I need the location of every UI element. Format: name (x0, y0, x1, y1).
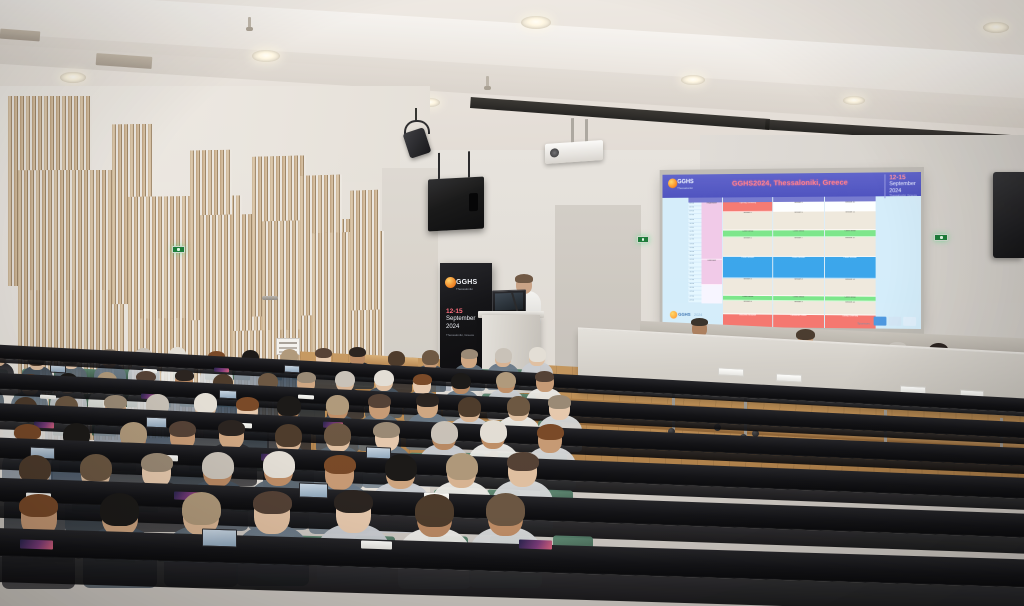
audience-hair (326, 395, 349, 415)
banner-date-year: 2024 (446, 324, 459, 330)
exit-sign (934, 234, 948, 241)
audience-hair (529, 347, 546, 361)
projection-screen: GGHS Thessaloniki GGHS2024, Thessaloniki… (662, 172, 921, 329)
audience-hair (120, 422, 147, 445)
audience-hair (253, 491, 292, 514)
lecture-hall-photo: GGHS Thessaloniki GGHS2024, Thessaloniki… (0, 0, 1024, 606)
panelist-hair (691, 318, 708, 326)
slide-date-place: Thessaloniki, Greece (889, 194, 917, 198)
audience-hair (202, 452, 234, 479)
sprinkler-head (248, 17, 251, 29)
name-card (718, 367, 744, 376)
audience-hair (537, 424, 564, 440)
audience-hair (461, 349, 478, 359)
audience-hair (548, 395, 571, 409)
lectern-laptop (492, 289, 526, 313)
audience-hair (324, 423, 351, 446)
conference-booklet (20, 539, 53, 549)
audience-laptop (299, 483, 328, 499)
ceiling-downlight (252, 50, 280, 62)
presenter-hair (515, 274, 533, 283)
audience-laptop (202, 528, 237, 547)
audience-laptop (366, 447, 391, 460)
audience-hair (275, 424, 302, 447)
schedule-session-block: Session 5 (773, 202, 823, 212)
audience-hair (374, 370, 394, 387)
speaker-port (469, 193, 478, 211)
slide-sponsor-logos: Sponsors (857, 316, 916, 326)
audience-hair (349, 347, 366, 357)
ceiling-downlight (60, 72, 86, 83)
banner-logo-text: GGHS (456, 279, 477, 286)
audience-hair (446, 453, 478, 480)
audience-laptop (284, 365, 300, 374)
audience-hair (535, 371, 555, 383)
door-handle[interactable] (262, 296, 278, 300)
schedule-session-block: Session 8 (773, 279, 823, 296)
audience-hair (169, 421, 196, 437)
audience-laptop (146, 416, 167, 427)
audience-hair (507, 396, 530, 416)
schedule-grid: 08:0008:3009:0009:3010:0010:3011:0011:30… (688, 196, 875, 304)
audience-hair (431, 421, 458, 444)
schedule-session-block: Poster Session (825, 256, 876, 279)
audience-hair (507, 452, 539, 471)
audience-hair (104, 395, 127, 409)
sponsor-label: Sponsors (857, 321, 869, 325)
acoustic-slat-panel (350, 189, 384, 310)
audience-hair (413, 374, 433, 386)
audience-papers (361, 541, 392, 550)
schedule-session-block: Session 9 (773, 301, 823, 315)
audience-hair (19, 494, 58, 517)
slide-date-month: September (889, 182, 917, 189)
audience-hair (368, 394, 391, 408)
audience-hair (480, 420, 507, 443)
banner-globe-icon (445, 277, 456, 288)
audience-hair (458, 397, 481, 417)
schedule-session-block: Registration (701, 202, 722, 259)
sprinkler-head (486, 76, 489, 88)
audience-laptop (50, 365, 66, 374)
ceiling-downlight (681, 75, 705, 85)
schedule-day-column: Opening CeremonySession 1Coffee BreakSes… (722, 197, 772, 304)
slat-gap (378, 190, 380, 310)
projected-slide: GGHS Thessaloniki GGHS2024, Thessaloniki… (662, 172, 921, 329)
audience-hair (451, 373, 471, 390)
schedule-session-block: Session 1 (723, 212, 773, 231)
schedule-session-block: Session 10 (825, 201, 876, 211)
slide-logo-sub: Thessaloniki (677, 186, 693, 190)
audience-hair (324, 455, 356, 474)
sponsor-logo (888, 317, 901, 326)
gghs-logo-icon: GGHS Thessaloniki (668, 177, 692, 195)
schedule-session-block: Session 7 (773, 237, 823, 256)
panelist-hair (796, 329, 815, 340)
speaker-cable (468, 151, 470, 177)
schedule-session-block: Icebreaker (701, 260, 722, 285)
audience-hair (496, 372, 516, 389)
speaker-cable (438, 153, 440, 179)
audience-hair (388, 351, 405, 365)
slide-header-bar: GGHS Thessaloniki GGHS2024, Thessaloniki… (662, 172, 921, 198)
schedule-session-block: Session 3 (723, 279, 773, 296)
banner-date-month: September (446, 316, 475, 322)
schedule-time-column: 08:0008:3009:0009:3010:0010:3011:0011:30… (688, 198, 701, 304)
slide-title: GGHS2024, Thessaloniki, Greece (732, 178, 848, 188)
audience-laptop (219, 390, 237, 400)
schedule-session-block: Opening Ceremony (723, 202, 773, 212)
audience-hair (422, 350, 439, 364)
audience-hair (373, 422, 400, 438)
footer-logo-sub: 2024 (694, 312, 702, 317)
sponsor-logo (903, 317, 916, 326)
hanging-speaker (428, 177, 484, 232)
banner-logo-sub: Thessaloniki (456, 287, 473, 291)
audience-hair (297, 372, 317, 384)
projector-mount-rod (571, 118, 574, 142)
projector-lens-icon (550, 148, 559, 158)
schedule-day-column: RegistrationIcebreaker (701, 197, 722, 303)
schedule-time-tick: 20:00 (688, 299, 701, 303)
schedule-day-column: Session 5Session 6Coffee BreakSession 7P… (773, 197, 824, 305)
audience-hair (263, 451, 295, 478)
schedule-session-block: Session 12 (825, 237, 876, 256)
footer-logo-text: GGHS (678, 312, 690, 317)
globe-icon (668, 178, 677, 188)
projector-mount-rod (585, 119, 588, 141)
audience-hair (415, 494, 454, 527)
ceiling-downlight (983, 22, 1009, 33)
audience-hair (495, 348, 512, 362)
name-card (776, 373, 802, 382)
wall-mounted-speaker (993, 172, 1024, 258)
audience-hair (334, 490, 373, 513)
audience-hair (80, 454, 112, 481)
audience-hair (335, 371, 355, 388)
audience-hair (416, 393, 439, 407)
audience-hair (141, 453, 173, 472)
audience-hair (100, 493, 139, 526)
stage-light-fixture (400, 120, 434, 162)
exit-sign (172, 246, 185, 253)
sponsor-logo (874, 317, 887, 326)
audience-hair (277, 396, 300, 416)
schedule-session-block: Poster Session (723, 256, 773, 278)
audience-hair (315, 348, 332, 358)
audience-hair (486, 493, 525, 526)
schedule-session-block: Session 13 (825, 279, 876, 297)
audience-hair (385, 454, 417, 481)
audience-hair (236, 397, 259, 411)
schedule-session-block: Poster Session (773, 256, 823, 279)
ceiling-downlight (843, 96, 865, 105)
audience-hair (194, 393, 217, 413)
slide-logo-text: GGHS (677, 179, 693, 185)
ceiling-downlight (521, 16, 551, 29)
schedule-day-column: Session 10Session 11Coffee BreakSession … (824, 196, 876, 304)
globe-icon-small (670, 311, 677, 319)
audience-hair (218, 420, 245, 436)
schedule-session-block: Session 6 (773, 211, 823, 230)
schedule-session-block: Session 11 (825, 211, 876, 231)
conference-booklet (519, 539, 552, 549)
slide-date-block: 12-15 September 2024 Thessaloniki, Greec… (884, 174, 917, 198)
banner-date-days: 12-15 (446, 308, 463, 315)
exit-sign (637, 236, 649, 243)
schedule-session-block: Session 4 (723, 301, 773, 315)
laptop-screen (495, 293, 523, 311)
audience-hair (182, 492, 221, 525)
banner-place: Thessaloniki, Greece (446, 333, 474, 337)
audience-hair (175, 370, 195, 382)
ceiling-projector (545, 140, 603, 164)
schedule-session-block: Session 2 (723, 237, 773, 256)
schedule-session-block: Session 14 (825, 302, 876, 316)
